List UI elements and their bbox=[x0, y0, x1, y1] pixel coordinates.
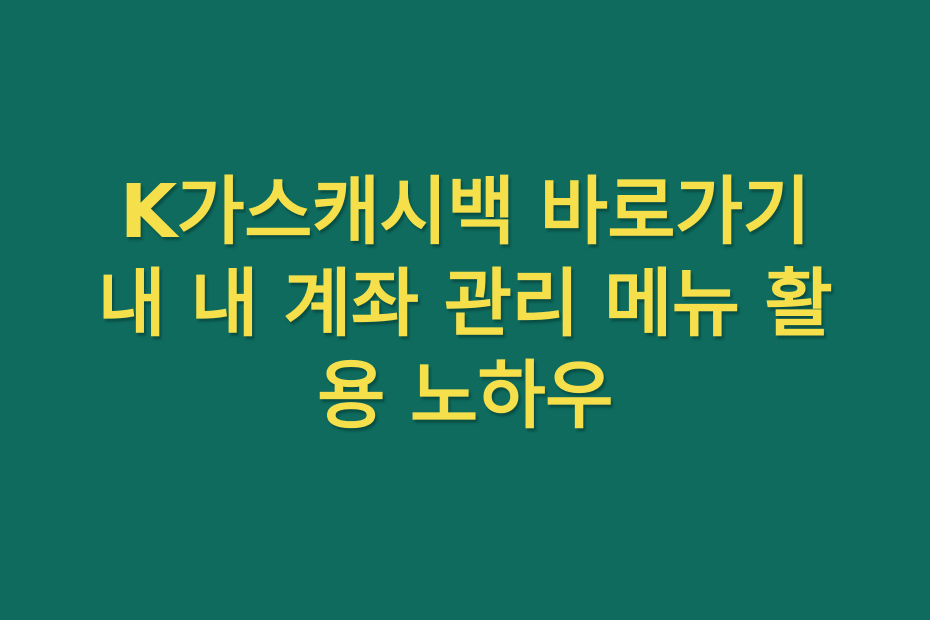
headline-line-1: K가스캐시백 바로가기 bbox=[120, 166, 810, 258]
headline-block: K가스캐시백 바로가기 내 내 계좌 관리 메뉴 활 용 노하우 bbox=[0, 166, 930, 442]
headline-line-3: 용 노하우 bbox=[317, 350, 613, 442]
headline-line-2: 내 내 계좌 관리 메뉴 활 bbox=[98, 258, 833, 350]
banner-canvas: K가스캐시백 바로가기 내 내 계좌 관리 메뉴 활 용 노하우 bbox=[0, 0, 930, 620]
